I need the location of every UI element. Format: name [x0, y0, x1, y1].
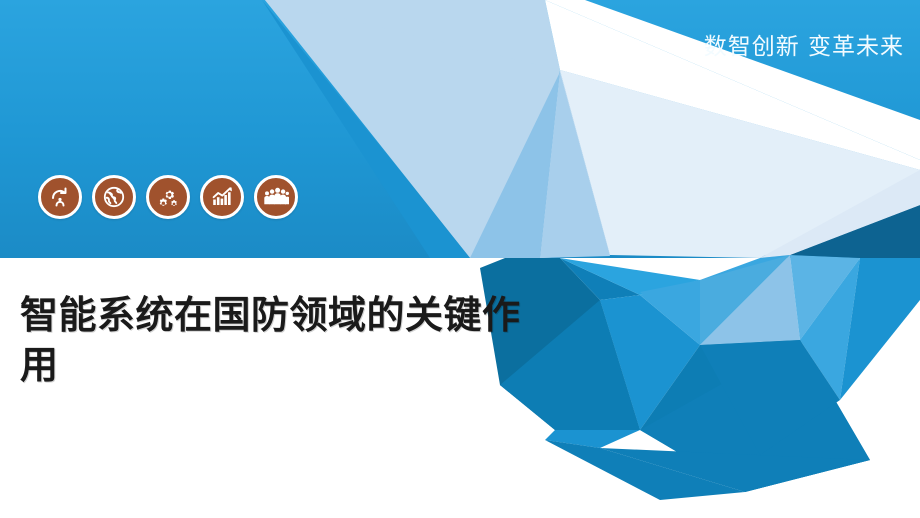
bar-chart-growth-icon[interactable]: [200, 175, 244, 219]
globe-icon[interactable]: [92, 175, 136, 219]
team-group-icon[interactable]: [254, 175, 298, 219]
icon-strip: [38, 175, 298, 219]
recycle-person-icon[interactable]: [38, 175, 82, 219]
low-poly-triangle-graphic: [0, 0, 920, 518]
page-title: 智能系统在国防领域的关键作用: [20, 290, 540, 390]
header-tagline: 数智创新 变革未来: [704, 27, 904, 61]
title-block: 智能系统在国防领域的关键作用: [20, 290, 540, 390]
gears-icon[interactable]: [146, 175, 190, 219]
slide-root: 数智创新 变革未来: [0, 0, 920, 518]
